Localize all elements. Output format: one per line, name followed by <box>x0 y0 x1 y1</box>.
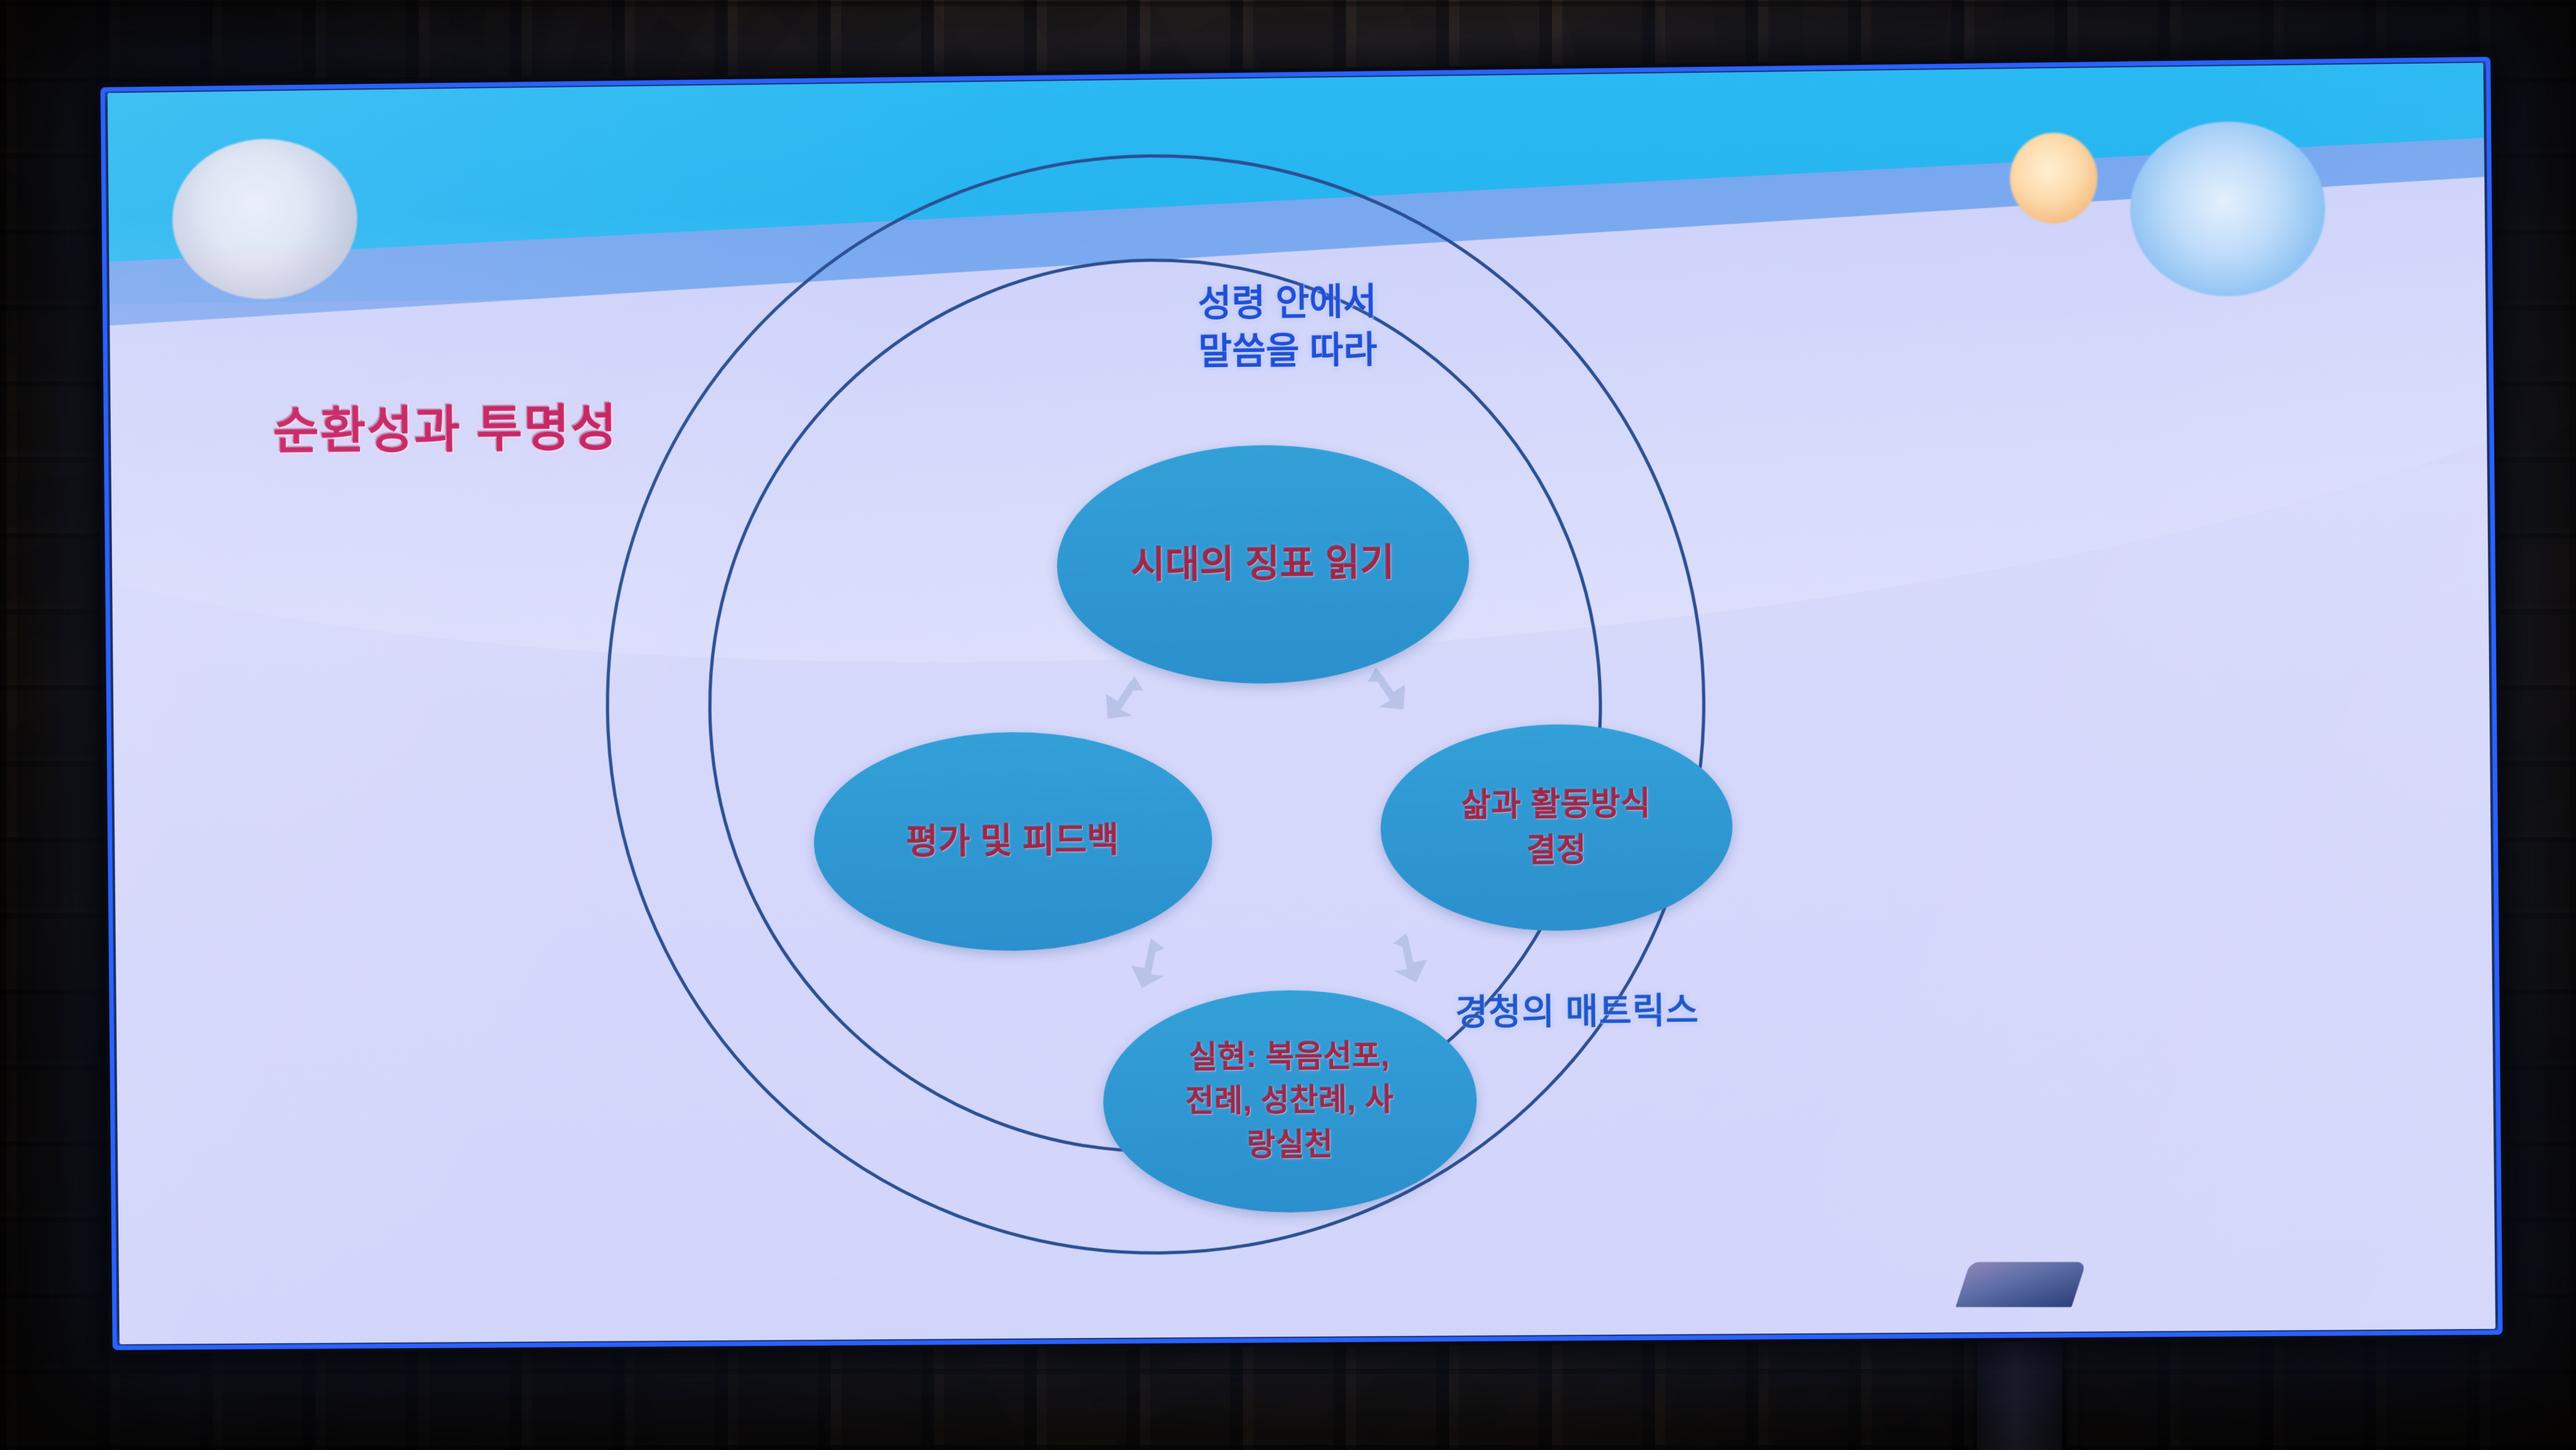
caption-top-line-2: 말씀을 따라 <box>1108 325 1469 378</box>
node-bottom-line-3: 랑실천 <box>1186 1122 1395 1168</box>
cycle-arrow-bottom-left-icon <box>1113 932 1174 993</box>
node-top-label: 시대의 징표 읽기 <box>1131 536 1396 592</box>
wall-mounted-display: 시대의 징표 읽기 삶과 활동방식 결정 실현: 복음선포, 전례, 성찬례, … <box>97 53 2506 1354</box>
node-right-label: 삶과 활동방식 결정 <box>1461 781 1651 874</box>
node-left-label: 평가 및 피드백 <box>906 816 1120 867</box>
caption-listening-matrix: 경청의 매트릭스 <box>1455 981 1699 1035</box>
node-right-line-1: 삶과 활동방식 <box>1461 781 1651 829</box>
cycle-arrow-bottom-right-icon <box>1384 927 1444 987</box>
display-screen: 시대의 징표 읽기 삶과 활동방식 결정 실현: 복음선포, 전례, 성찬례, … <box>108 62 2495 1344</box>
node-decide-life-and-activity[interactable]: 삶과 활동방식 결정 <box>1379 723 1733 932</box>
caption-in-the-holy-spirit: 성령 안에서 말씀을 따라 <box>1107 277 1468 378</box>
cycle-diagram: 시대의 징표 읽기 삶과 활동방식 결정 실현: 복음선포, 전례, 성찬례, … <box>108 62 2495 1344</box>
node-right-line-2: 결정 <box>1462 827 1652 874</box>
caption-top-line-1: 성령 안에서 <box>1107 277 1468 330</box>
slide-title: 순환성과 투명성 <box>273 388 618 464</box>
node-bottom-line-1: 실현: 복음선포, <box>1185 1035 1394 1080</box>
node-bottom-line-2: 전례, 성찬례, 사 <box>1186 1078 1394 1124</box>
node-bottom-label: 실현: 복음선포, 전례, 성찬례, 사 랑실천 <box>1185 1035 1394 1168</box>
tv-mount-cap <box>1956 1262 2087 1307</box>
